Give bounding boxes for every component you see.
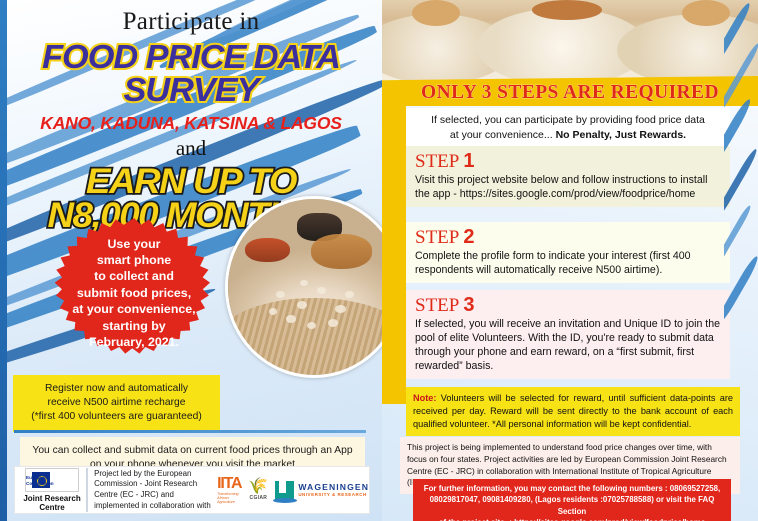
burst-line-6: February, 2021.: [89, 334, 179, 350]
burst-line-3: submit food prices,: [77, 285, 191, 301]
iita-wordmark: IITA: [217, 476, 241, 492]
food-photo-image: [228, 199, 382, 375]
step-1-text: Visit this project website below and fol…: [415, 173, 721, 201]
burst-line-0: Use your: [107, 236, 160, 252]
cgiar-logo: 🌾 CGIAR: [248, 479, 268, 501]
eu-flag-icon: European Commission: [25, 468, 79, 492]
wageningen-mark-icon: [275, 481, 294, 500]
intro-line-2: at your convenience... No Penalty, Just …: [414, 128, 722, 143]
contact-line-3: of the project site -: https://sites.goo…: [419, 517, 725, 521]
ec-caption: European Commission: [26, 475, 75, 486]
burst-line-1: smart phone: [97, 252, 171, 268]
register-line-1: receive N500 airtime recharge: [19, 396, 214, 410]
left-panel: Participate in FOOD PRICE DATA SURVEY KA…: [0, 0, 382, 521]
starburst-text: Use your smart phone to collect and subm…: [48, 218, 220, 368]
and-connector: and: [0, 136, 382, 161]
right-edge-waves: [724, 0, 758, 521]
step-3-text: If selected, you will receive an invitat…: [415, 317, 721, 373]
register-line-0: Register now and automatically: [19, 382, 214, 396]
gold-left-gutter: [382, 104, 406, 404]
survey-title: FOOD PRICE DATA SURVEY: [0, 40, 382, 106]
contact-box: For further information, you may contact…: [413, 479, 731, 521]
wageningen-sub: UNIVERSITY & RESEARCH: [298, 492, 369, 497]
iita-logo: IITA Transforming African Agriculture: [217, 476, 241, 504]
intro-box: If selected, you can participate by prov…: [406, 108, 730, 148]
register-incentive-box: Register now and automatically receive N…: [13, 375, 220, 432]
states-list: KANO, KADUNA, KATSINA & LAGOS: [0, 113, 382, 134]
step-2-word: STEP: [415, 227, 459, 248]
step-1-number: 1: [463, 150, 474, 172]
cgiar-leaf-icon: 🌾: [248, 479, 268, 495]
step-2-number: 2: [463, 226, 474, 248]
intro-line-1: If selected, you can participate by prov…: [414, 113, 722, 128]
grains-photo-banner: [382, 0, 758, 80]
participate-heading: Participate in: [0, 8, 382, 36]
step-3-box: STEP 3 If selected, you will receive an …: [406, 290, 730, 379]
collaborator-logos: IITA Transforming African Agriculture 🌾 …: [217, 476, 369, 504]
section-divider: [14, 430, 366, 433]
wageningen-logo: WAGENINGEN UNIVERSITY & RESEARCH: [275, 481, 369, 500]
register-line-2: (*first 400 volunteers are guaranteed): [19, 410, 214, 424]
intro-line-2-plain: at your convenience...: [450, 129, 556, 141]
wageningen-name: WAGENINGEN: [298, 483, 369, 492]
project-led-text: Project led by the European Commission -…: [88, 469, 217, 512]
step-1-word: STEP: [415, 151, 459, 172]
step-1-box: STEP 1 Visit this project website below …: [406, 146, 730, 207]
note-box: Note: Volunteers will be selected for re…: [406, 387, 740, 436]
poster-root: Participate in FOOD PRICE DATA SURVEY KA…: [0, 0, 758, 521]
starburst-callout: Use your smart phone to collect and subm…: [48, 218, 220, 368]
step-2-label: STEP 2: [415, 227, 721, 248]
cgiar-wordmark: CGIAR: [248, 495, 268, 501]
step-3-label: STEP 3: [415, 295, 721, 316]
european-commission-logo: European Commission Joint Research Centr…: [15, 468, 88, 512]
step-3-number: 3: [463, 294, 474, 316]
burst-line-2: to collect and: [94, 268, 174, 284]
step-2-text: Complete the profile form to indicate yo…: [415, 249, 721, 277]
note-label: Note:: [413, 393, 436, 403]
burst-line-4: at your convenience,: [72, 301, 195, 317]
contact-line-1: For further information, you may contact…: [419, 483, 725, 494]
tan-grain-basket: [311, 234, 373, 269]
step-1-label: STEP 1: [415, 151, 721, 172]
step-2-box: STEP 2 Complete the profile form to indi…: [406, 222, 730, 283]
intro-line-2-bold: No Penalty, Just Rewards.: [556, 129, 687, 141]
partner-logo-bar: European Commission Joint Research Centr…: [14, 466, 370, 514]
contact-line-2: 08029817047, 09081409280, (Lagos residen…: [419, 494, 725, 517]
note-text: Volunteers will be selected for reward, …: [413, 393, 733, 429]
right-panel: ONLY 3 STEPS ARE REQUIRED If selected, y…: [382, 0, 758, 521]
woven-basket-rim: [225, 298, 382, 378]
food-photo-circle: [225, 196, 382, 378]
red-spice-basket: [245, 238, 290, 263]
steps-banner: ONLY 3 STEPS ARE REQUIRED: [382, 76, 758, 106]
steps-banner-text: ONLY 3 STEPS ARE REQUIRED: [421, 82, 719, 104]
earn-line-1: EARN UP TO: [0, 165, 382, 199]
jrc-label: Joint Research Centre: [18, 494, 86, 512]
step-3-word: STEP: [415, 295, 459, 316]
burst-line-5: starting by: [102, 318, 165, 334]
iita-tagline: Transforming African Agriculture: [217, 492, 241, 504]
